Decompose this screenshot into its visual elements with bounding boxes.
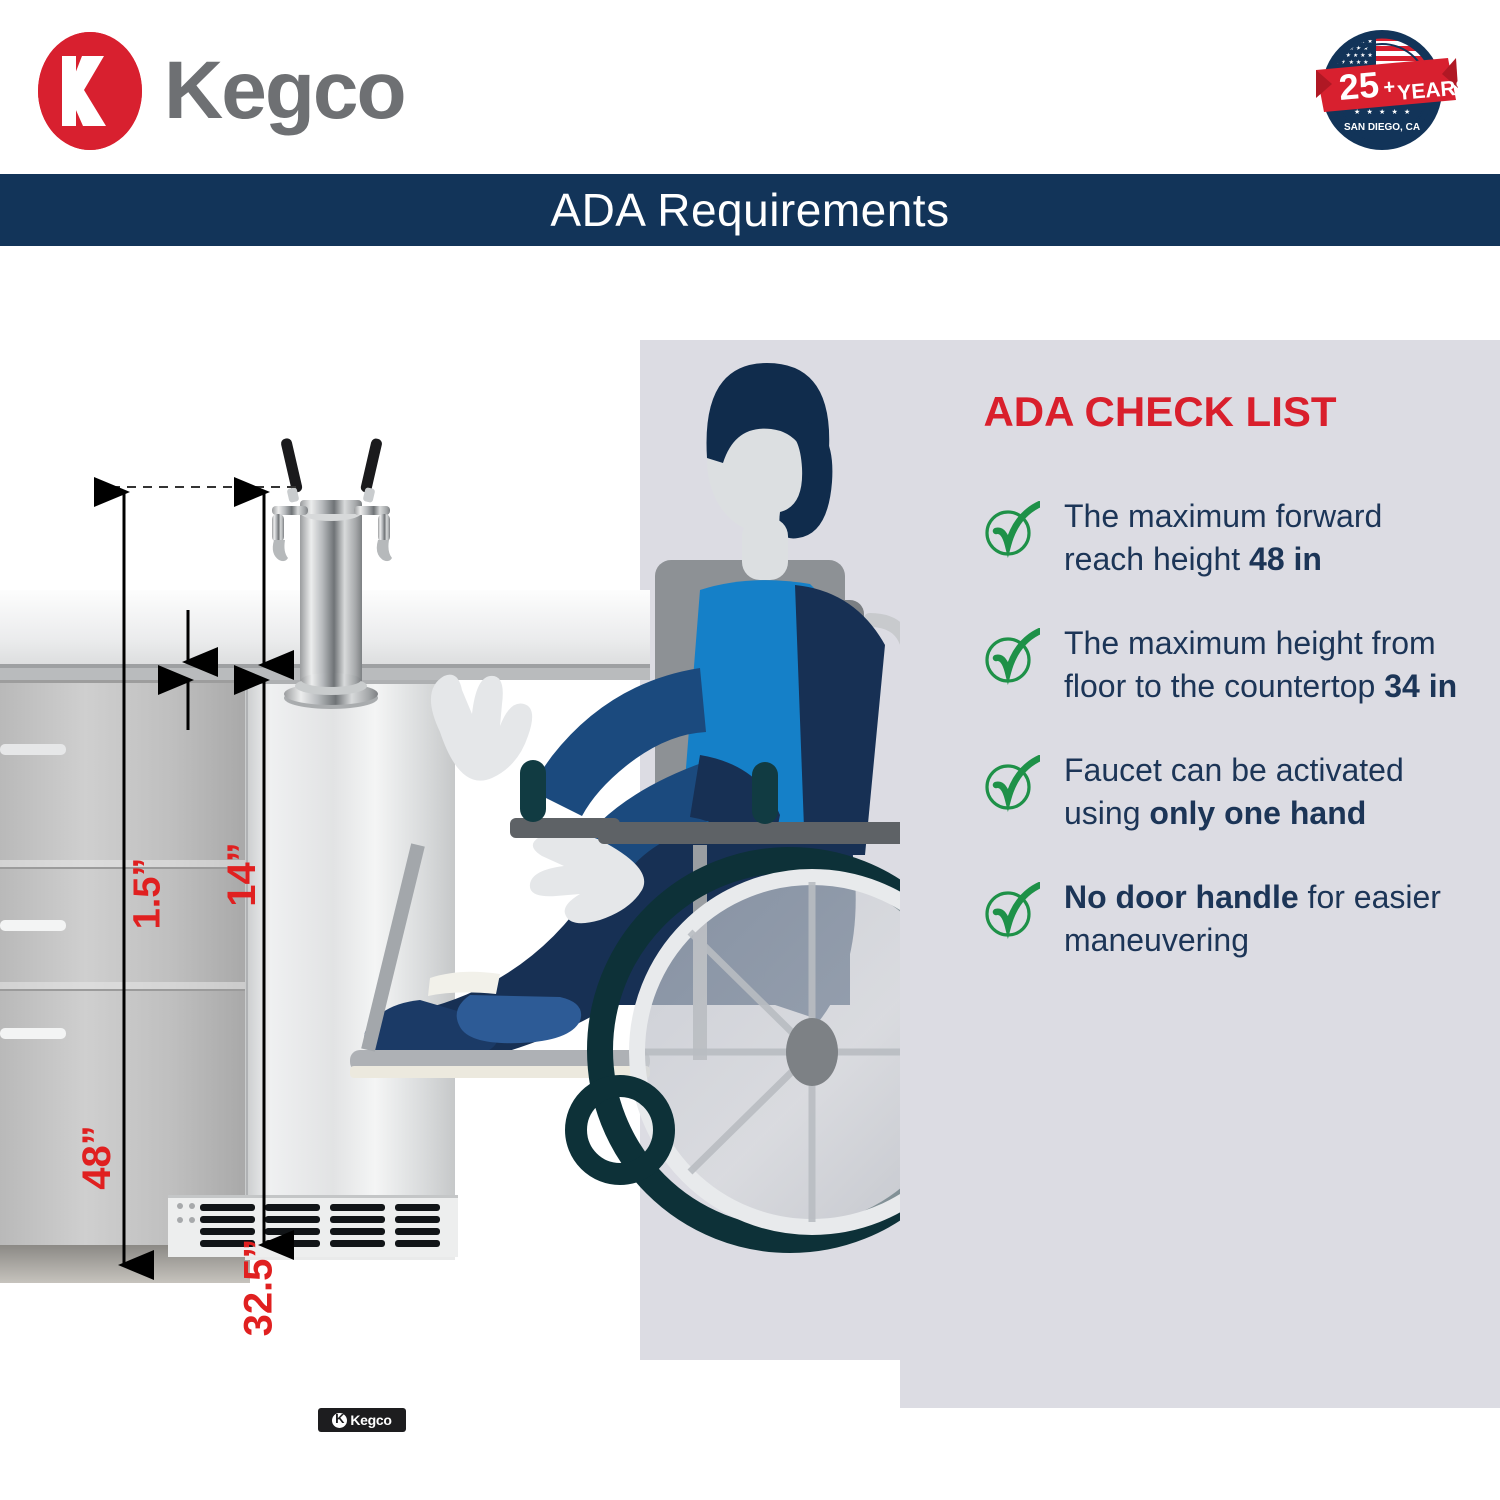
badge-years-number: 25 [1337, 64, 1380, 108]
ada-checklist-panel: ADA CHECK LIST The maximum forward reach… [900, 340, 1500, 1408]
checklist-heading: ADA CHECK LIST [900, 388, 1420, 436]
kegco-k-logo-icon [38, 32, 142, 150]
list-item[interactable]: The maximum height from floor to the cou… [982, 622, 1482, 707]
list-item-label: No door handle for easier maneuvering [1064, 876, 1464, 961]
list-item[interactable]: The maximum forward reach height 48 in [982, 495, 1482, 580]
green-check-circle-icon [982, 628, 1040, 686]
door-badge-label: Kegco [350, 1412, 391, 1428]
item-text-bold: 34 in [1384, 668, 1457, 704]
brand-logo[interactable]: Kegco [38, 32, 405, 150]
list-item-label: The maximum height from floor to the cou… [1064, 622, 1464, 707]
item-text-bold: only one hand [1149, 795, 1366, 831]
list-item[interactable]: No door handle for easier maneuvering [982, 876, 1482, 961]
green-check-circle-icon [982, 882, 1040, 940]
page-title: ADA Requirements [550, 183, 949, 237]
svg-text:★ ★ ★ ★ ★: ★ ★ ★ ★ ★ [1354, 108, 1412, 116]
kegerator-door-brand-badge: Kegco [318, 1408, 406, 1432]
kegco-k-logo-icon [332, 1413, 347, 1428]
svg-text:+: + [1383, 76, 1397, 99]
dimension-arrows [0, 260, 960, 1360]
badge-location: SAN DIEGO, CA [1344, 122, 1420, 133]
tower-base-to-countertop-dimension: 1.5” [126, 858, 169, 930]
list-item-label: Faucet can be activated using only one h… [1064, 749, 1464, 834]
list-item[interactable]: Faucet can be activated using only one h… [982, 749, 1482, 834]
title-bar: ADA Requirements [0, 174, 1500, 246]
countertop-height-dimension: 32.5” [236, 1239, 281, 1337]
green-check-circle-icon [982, 755, 1040, 813]
item-text-bold: No door handle [1064, 879, 1299, 915]
anniversary-badge: ★ ★ ★ ★ ★ ★ ★ ★ ★ ★ ★ ★ ★ ★ ★ ★ ★ ★ ★ ★ … [1310, 22, 1460, 162]
brand-name: Kegco [164, 50, 405, 132]
max-forward-reach-dimension: 48” [75, 1125, 120, 1190]
checklist-items: The maximum forward reach height 48 in T… [982, 495, 1482, 1003]
item-text-plain: The maximum forward reach height [1064, 498, 1382, 577]
item-text-bold: 48 in [1249, 541, 1322, 577]
page-header: Kegco ★ ★ ★ ★ ★ ★ ★ ★ ★ ★ ★ [0, 0, 1500, 170]
green-check-circle-icon [982, 501, 1040, 559]
item-text-plain: The maximum height from floor to the cou… [1064, 625, 1436, 704]
tower-height-dimension: 14” [220, 842, 265, 907]
ada-kegerator-diagram: 1.5” 14” 48” 32.5” Kegco [0, 260, 960, 1360]
list-item-label: The maximum forward reach height 48 in [1064, 495, 1464, 580]
